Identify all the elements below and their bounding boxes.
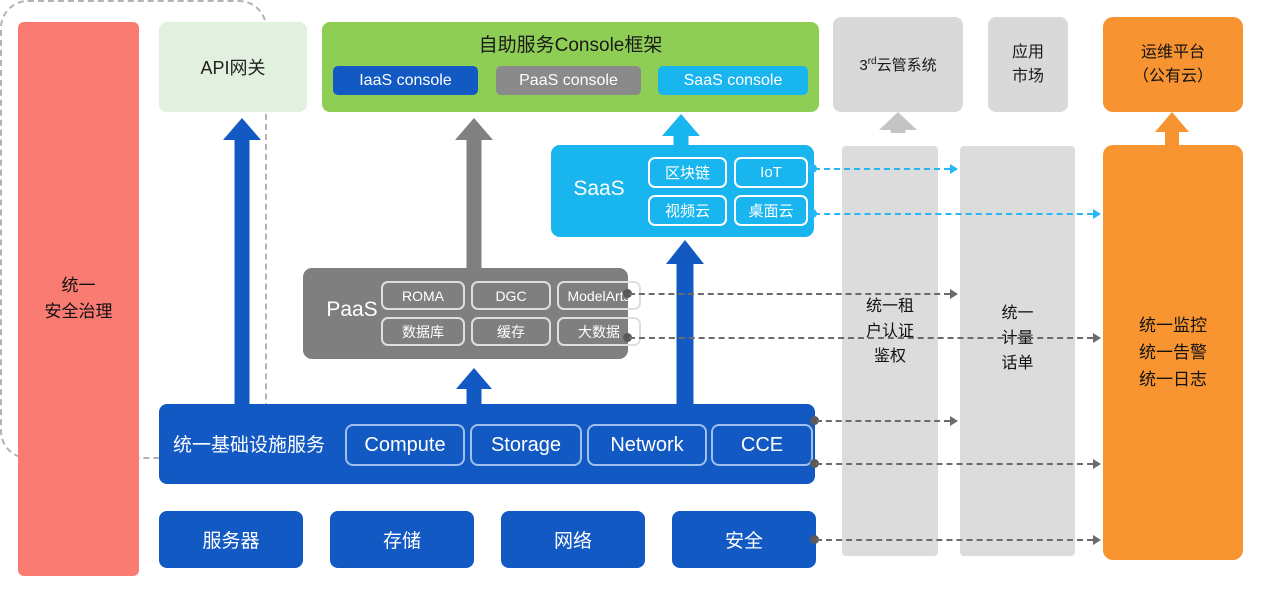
- console-frame-title: 自助服务Console框架: [322, 30, 819, 57]
- connector-arrowhead-infra-ops: [1093, 459, 1101, 469]
- security-line-1: 统一: [45, 273, 113, 299]
- arrow-to-ops-platform: [1155, 112, 1189, 146]
- saas-chip-desktop-cloud[interactable]: 桌面云: [734, 195, 808, 226]
- connector-saas-to-ops: [814, 213, 1093, 215]
- metering-line-1: 统一: [960, 301, 1075, 326]
- connector-arrowhead-saas-ops: [1093, 209, 1101, 219]
- ops-body-line-2: 统一告警: [1139, 339, 1207, 366]
- saas-chip-iot[interactable]: IoT: [734, 157, 808, 188]
- self-service-console-frame: 自助服务Console框架 IaaS console PaaS console …: [322, 22, 819, 112]
- ops-platform-body-box: 统一监控 统一告警 统一日志: [1103, 145, 1243, 560]
- resource-box-network[interactable]: 网络: [501, 511, 645, 568]
- unified-tenant-auth-column: 统一租 户认证 鉴权: [842, 146, 938, 556]
- paas-chip-cache[interactable]: 缓存: [471, 317, 551, 346]
- paas-chip-dgc[interactable]: DGC: [471, 281, 551, 310]
- connector-resources-to-ops: [816, 539, 1093, 541]
- paas-label: PaaS: [313, 298, 391, 322]
- ops-body-line-3: 统一日志: [1139, 366, 1207, 393]
- infra-chip-cce[interactable]: CCE: [711, 424, 813, 466]
- iaas-console-chip[interactable]: IaaS console: [333, 66, 478, 95]
- architecture-diagram: 统一 安全治理 API网关 自助服务Console框架 IaaS console…: [0, 0, 1265, 605]
- ops-body-line-1: 统一监控: [1139, 312, 1207, 339]
- infra-chip-network[interactable]: Network: [587, 424, 707, 466]
- app-market-line-2: 市场: [1012, 65, 1044, 89]
- third-party-sup: rd: [868, 56, 877, 67]
- api-gateway-box: API网关: [159, 22, 307, 112]
- tenant-auth-line-3: 鉴权: [842, 344, 938, 369]
- tenant-auth-line-1: 统一租: [842, 294, 938, 319]
- tenant-auth-line-2: 户认证: [842, 319, 938, 344]
- security-line-2: 安全治理: [45, 299, 113, 325]
- connector-arrowhead-paas-auth: [950, 289, 958, 299]
- arrow-infra-to-paas: [456, 368, 492, 406]
- saas-box: SaaS 区块链 IoT 视频云 桌面云: [551, 145, 814, 237]
- resource-box-server[interactable]: 服务器: [159, 511, 303, 568]
- security-governance-pillar: 统一 安全治理: [18, 22, 139, 576]
- api-gateway-label: API网关: [200, 54, 265, 80]
- infra-chip-storage[interactable]: Storage: [470, 424, 582, 466]
- arrow-infra-to-api-gateway: [223, 118, 261, 406]
- connector-infra-to-tenant-auth: [816, 420, 950, 422]
- connector-arrowhead-paas-ops: [1093, 333, 1101, 343]
- third-party-cloud-mgmt-box: 3rd云管系统: [833, 17, 963, 112]
- paas-console-chip[interactable]: PaaS console: [496, 66, 641, 95]
- saas-console-chip[interactable]: SaaS console: [658, 66, 808, 95]
- connector-infra-to-ops: [816, 463, 1093, 465]
- resource-box-security[interactable]: 安全: [672, 511, 816, 568]
- app-market-line-1: 应用: [1012, 41, 1044, 65]
- connector-saas-to-tenant-auth: [814, 168, 950, 170]
- paas-box: PaaS ROMA DGC ModelArts 数据库 缓存 大数据: [303, 268, 628, 359]
- saas-chip-video-cloud[interactable]: 视频云: [648, 195, 727, 226]
- arrow-infra-to-saas: [666, 240, 704, 406]
- connector-arrowhead-saas-auth: [950, 164, 958, 174]
- third-party-label: 3rd云管系统: [859, 54, 936, 75]
- saas-chip-blockchain[interactable]: 区块链: [648, 157, 727, 188]
- arrow-paas-to-console: [455, 118, 493, 270]
- paas-chip-database[interactable]: 数据库: [381, 317, 465, 346]
- unified-infrastructure-bar: 统一基础设施服务 Compute Storage Network CCE: [159, 404, 815, 484]
- third-party-prefix: 3: [859, 57, 867, 74]
- resource-box-storage[interactable]: 存储: [330, 511, 474, 568]
- connector-paas-to-tenant-auth: [629, 293, 950, 295]
- ops-platform-header-box: 运维平台 （公有云）: [1103, 17, 1243, 112]
- metering-line-3: 话单: [960, 351, 1075, 376]
- unified-metering-column: 统一 计量 话单: [960, 146, 1075, 556]
- infrastructure-label: 统一基础设施服务: [173, 430, 325, 457]
- connector-arrowhead-resources-ops: [1093, 535, 1101, 545]
- arrow-saas-to-console: [662, 114, 700, 147]
- saas-label: SaaS: [563, 177, 635, 201]
- ops-platform-line-1: 运维平台: [1133, 41, 1213, 65]
- app-market-box: 应用 市场: [988, 17, 1068, 112]
- infra-chip-compute[interactable]: Compute: [345, 424, 465, 466]
- third-party-text: 云管系统: [877, 57, 937, 74]
- connector-arrowhead-infra-auth: [950, 416, 958, 426]
- ops-platform-line-2: （公有云）: [1133, 65, 1213, 89]
- connector-paas-to-ops: [629, 337, 1093, 339]
- arrow-to-third-party: [879, 112, 917, 132]
- paas-chip-roma[interactable]: ROMA: [381, 281, 465, 310]
